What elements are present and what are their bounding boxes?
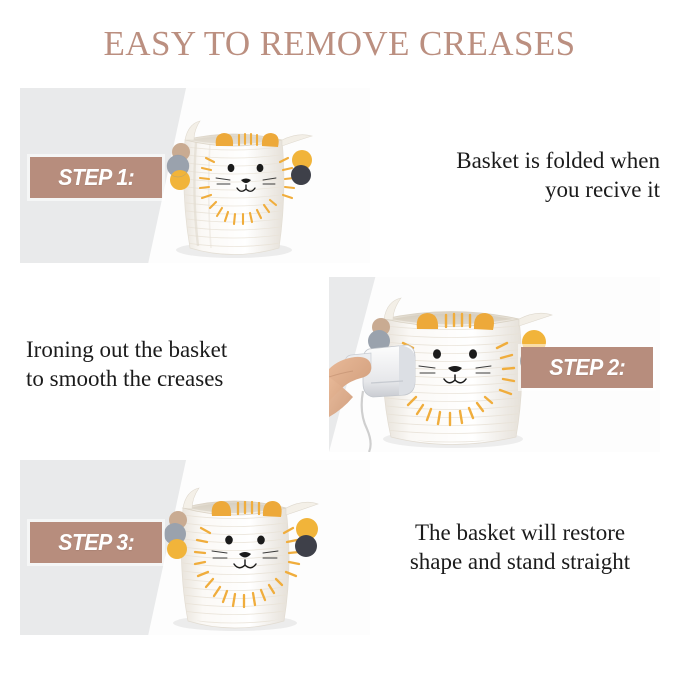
- step-1-label: STEP 1:: [58, 164, 134, 191]
- step-3-label: STEP 3:: [58, 529, 134, 556]
- pompom-cluster-right: [295, 518, 318, 557]
- caption-line: Ironing out the basket: [26, 336, 316, 365]
- pompom-cluster-left: [167, 143, 190, 190]
- step-1-caption: Basket is folded when you recive it: [378, 147, 660, 205]
- caption-line: to smooth the creases: [26, 365, 316, 394]
- infographic-page: EASY TO REMOVE CREASES: [0, 0, 679, 679]
- caption-line: Basket is folded when: [378, 147, 660, 176]
- caption-line: you recive it: [378, 176, 660, 205]
- page-title: EASY TO REMOVE CREASES: [0, 24, 679, 64]
- step-2-banner: STEP 2:: [521, 347, 653, 388]
- caption-line: shape and stand straight: [370, 548, 670, 577]
- step-3-banner: STEP 3:: [30, 522, 162, 563]
- step-1-banner: STEP 1:: [30, 157, 162, 198]
- step-3-caption: The basket will restore shape and stand …: [370, 519, 670, 577]
- pompom-cluster-left: [164, 511, 187, 559]
- pompom-cluster-right: [291, 150, 312, 185]
- caption-line: The basket will restore: [370, 519, 670, 548]
- step-2-label: STEP 2:: [549, 354, 625, 381]
- step-2-caption: Ironing out the basket to smooth the cre…: [26, 336, 316, 394]
